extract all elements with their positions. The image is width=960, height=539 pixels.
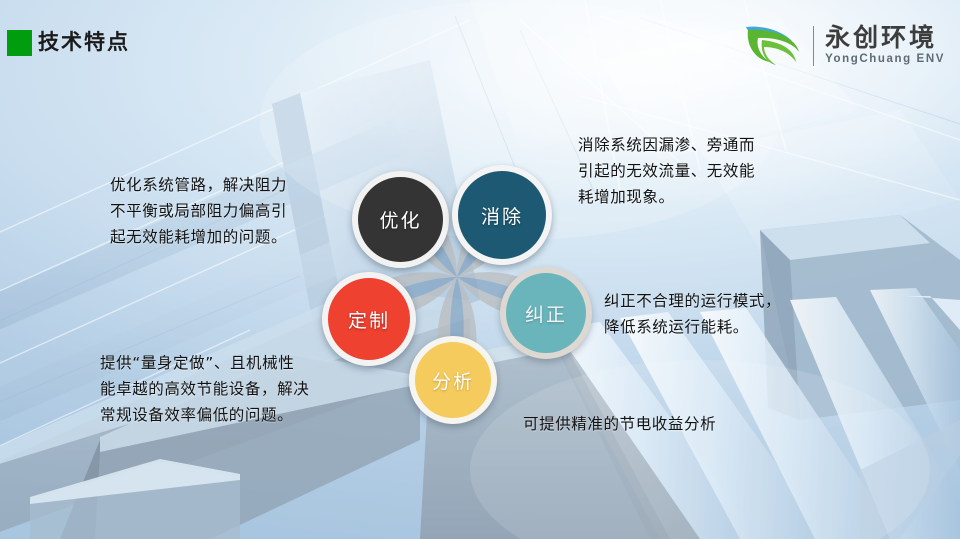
note-optimize: 优化系统管路，解决阻力 不平衡或局部阻力偏高引 起无效能耗增加的问题。 (110, 172, 350, 250)
note-custom: 提供“量身定做”、且机械性 能卓越的高效节能设备，解决 常规设备效率偏低的问题。 (100, 350, 350, 428)
circle-optimize[interactable]: 优化 (352, 171, 449, 268)
logo-divider (813, 26, 814, 66)
note-remove: 消除系统因漏渗、旁通而 引起的无效流量、无效能 耗增加现象。 (578, 132, 793, 210)
logo-name-en: YongChuang ENV (825, 53, 945, 67)
company-logo: 永创环境 YongChuang ENV (742, 20, 945, 72)
logo-leaf-icon (742, 22, 804, 70)
circle-correct[interactable]: 纠正 (500, 267, 592, 359)
circle-remove[interactable]: 消除 (452, 165, 552, 265)
circle-label-analyze: 分析 (432, 367, 474, 394)
circle-label-remove: 消除 (481, 202, 523, 229)
page-title: 技术特点 (38, 26, 130, 56)
circle-label-correct: 纠正 (525, 300, 567, 327)
slide: 技术特点 永创环境 YongChuang ENV 优化 消除 定制 纠正 (0, 0, 960, 539)
circle-label-custom: 定制 (348, 306, 390, 333)
slide-header: 技术特点 永创环境 YongChuang ENV (0, 0, 960, 86)
note-correct: 纠正不合理的运行模式， 降低系统运行能耗。 (604, 288, 819, 340)
note-analyze: 可提供精准的节电收益分析 (523, 411, 823, 437)
circle-analyze[interactable]: 分析 (409, 336, 497, 424)
logo-name-cn: 永创环境 (825, 25, 945, 51)
circle-label-optimize: 优化 (379, 206, 421, 233)
header-square-marker (7, 30, 32, 56)
